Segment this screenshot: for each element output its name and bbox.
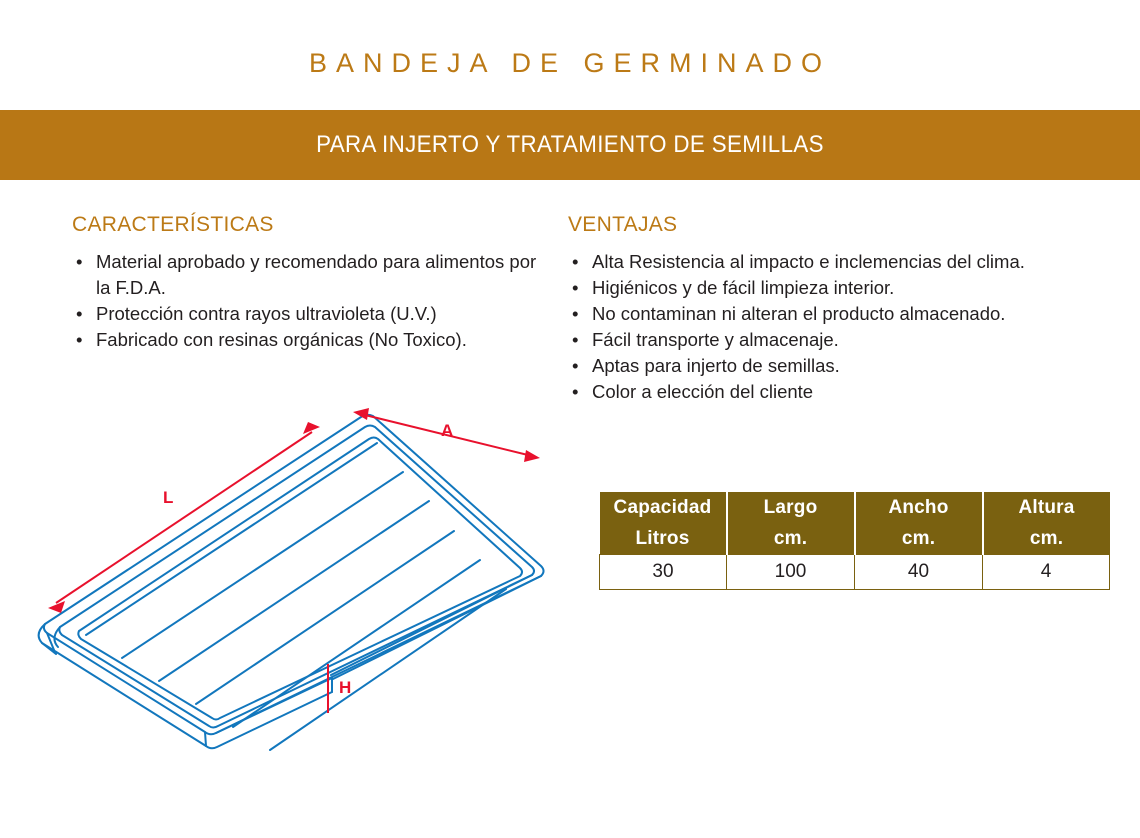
list-item: • Higiénicos y de fácil limpieza interio…: [568, 275, 1088, 301]
width-label: A: [441, 421, 453, 440]
table-header-row-units-names: Capacidad Largo Ancho Altura: [600, 492, 1110, 523]
advantages-heading: VENTAJAS: [568, 213, 1088, 237]
cell-altura: 4: [983, 555, 1110, 590]
characteristics-list: • Material aprobado y recomendado para a…: [72, 249, 542, 353]
tray-isometric-svg: L A H: [20, 400, 580, 770]
list-item-label: Fácil transporte y almacenaje.: [592, 329, 839, 350]
list-item-label: No contaminan ni alteran el producto alm…: [592, 303, 1005, 324]
cell-ancho: 40: [855, 555, 983, 590]
unit-header-ancho-cm: cm.: [855, 523, 983, 555]
bullet-icon: •: [572, 301, 578, 327]
subtitle-banner: PARA INJERTO Y TRATAMIENTO DE SEMILLAS: [0, 110, 1140, 180]
advantages-section: VENTAJAS • Alta Resistencia al impacto e…: [568, 213, 1088, 405]
list-item: • Alta Resistencia al impacto e inclemen…: [568, 249, 1088, 275]
unit-header-largo-cm: cm.: [727, 523, 855, 555]
column-header-largo: Largo: [727, 492, 855, 523]
list-item-label: Material aprobado y recomendado para ali…: [96, 251, 536, 298]
list-item: • Protección contra rayos ultravioleta (…: [72, 301, 542, 327]
banner-subtitle: PARA INJERTO Y TRATAMIENTO DE SEMILLAS: [40, 110, 1100, 180]
bullet-icon: •: [572, 249, 578, 275]
length-label: L: [163, 488, 173, 507]
column-header-ancho: Ancho: [855, 492, 983, 523]
list-item-label: Fabricado con resinas orgánicas (No Toxi…: [96, 329, 467, 350]
list-item: • Aptas para injerto de semillas.: [568, 353, 1088, 379]
table-row: 30 100 40 4: [600, 555, 1110, 590]
unit-header-altura-cm: cm.: [983, 523, 1110, 555]
bullet-icon: •: [572, 353, 578, 379]
list-item-label: Alta Resistencia al impacto e inclemenci…: [592, 251, 1025, 272]
list-item: • Color a elección del cliente: [568, 379, 1088, 405]
cell-largo: 100: [727, 555, 855, 590]
column-header-altura: Altura: [983, 492, 1110, 523]
bullet-icon: •: [572, 275, 578, 301]
list-item-label: Color a elección del cliente: [592, 381, 813, 402]
table-header-row-units: Litros cm. cm. cm.: [600, 523, 1110, 555]
page-title: BANDEJA DE GERMINADO: [0, 48, 1140, 79]
cell-capacidad: 30: [600, 555, 727, 590]
height-label: H: [339, 678, 351, 697]
bullet-icon: •: [76, 327, 82, 353]
bullet-icon: •: [76, 301, 82, 327]
list-item: • Material aprobado y recomendado para a…: [72, 249, 542, 301]
list-item: • Fácil transporte y almacenaje.: [568, 327, 1088, 353]
bullet-icon: •: [572, 327, 578, 353]
specifications-table: Capacidad Largo Ancho Altura Litros cm. …: [599, 492, 1110, 590]
list-item-label: Aptas para injerto de semillas.: [592, 355, 840, 376]
list-item-label: Higiénicos y de fácil limpieza interior.: [592, 277, 894, 298]
tray-rib-lines: [86, 443, 506, 750]
column-header-capacidad: Capacidad: [600, 492, 727, 523]
list-item: • No contaminan ni alteran el producto a…: [568, 301, 1088, 327]
unit-header-litros: Litros: [600, 523, 727, 555]
advantages-list: • Alta Resistencia al impacto e inclemen…: [568, 249, 1088, 405]
list-item-label: Protección contra rayos ultravioleta (U.…: [96, 303, 437, 324]
length-dimension-arrow: [48, 422, 320, 613]
characteristics-heading: CARACTERÍSTICAS: [72, 213, 542, 237]
product-drawing: L A H: [20, 400, 580, 770]
characteristics-section: CARACTERÍSTICAS • Material aprobado y re…: [72, 213, 542, 353]
bullet-icon: •: [76, 249, 82, 275]
tray-outline: [39, 415, 544, 749]
list-item: • Fabricado con resinas orgánicas (No To…: [72, 327, 542, 353]
